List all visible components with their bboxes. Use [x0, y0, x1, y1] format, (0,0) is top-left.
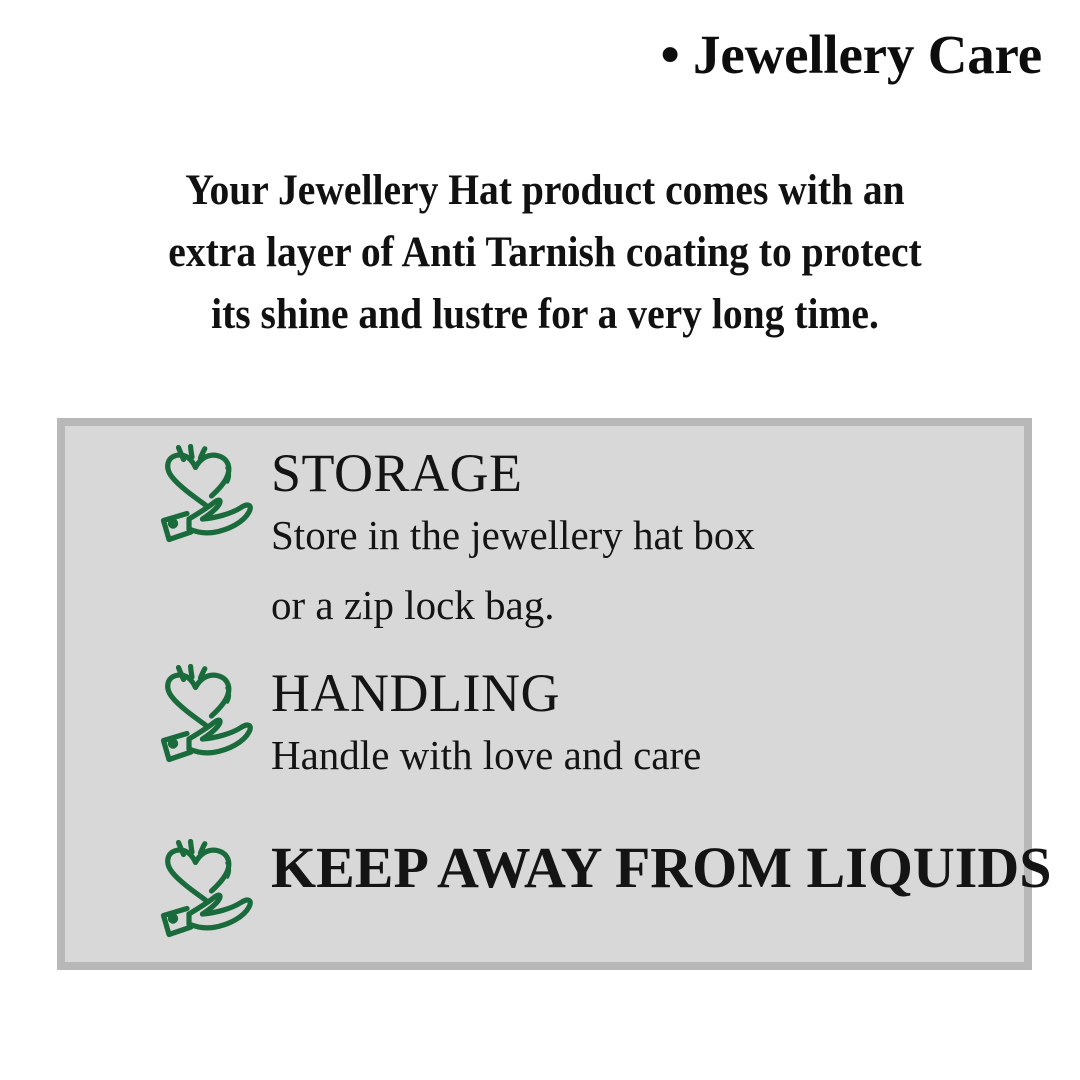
intro-line-3: its shine and lustre for a very long tim…: [108, 284, 982, 346]
care-item-text: HANDLING Handle with love and care: [271, 664, 701, 784]
care-item-body-line-2: or a zip lock bag.: [271, 576, 755, 634]
intro-line-2: extra layer of Anti Tarnish coating to p…: [108, 222, 982, 284]
care-item-storage: STORAGE Store in the jewellery hat box o…: [153, 444, 755, 634]
care-item-body: Store in the jewellery hat box or a zip …: [271, 506, 755, 634]
care-item-handling: HANDLING Handle with love and care: [153, 664, 701, 784]
care-item-heading: HANDLING: [271, 661, 560, 723]
page-title: • Jewellery Care: [0, 26, 1042, 84]
care-instructions-panel: STORAGE Store in the jewellery hat box o…: [57, 418, 1032, 970]
hand-holding-heart-icon: [153, 444, 257, 544]
care-item-heading: STORAGE: [271, 443, 523, 503]
jewellery-care-card: • Jewellery Care Your Jewellery Hat prod…: [0, 0, 1080, 1080]
care-item-body: Handle with love and care: [271, 726, 701, 784]
intro-line-1: Your Jewellery Hat product comes with an: [108, 160, 982, 222]
hand-holding-heart-icon: [153, 664, 257, 764]
care-item-text: STORAGE Store in the jewellery hat box o…: [271, 444, 755, 634]
care-item-heading: KEEP AWAY FROM LIQUIDS: [271, 825, 1051, 900]
care-item-body-line-1: Store in the jewellery hat box: [271, 506, 755, 564]
care-item-body-line-1: Handle with love and care: [271, 726, 701, 784]
care-item-keep-away-from-liquids: KEEP AWAY FROM LIQUIDS: [153, 839, 1051, 939]
hand-holding-heart-icon: [153, 839, 257, 939]
intro-paragraph: Your Jewellery Hat product comes with an…: [108, 160, 982, 346]
care-item-text: KEEP AWAY FROM LIQUIDS: [271, 839, 1051, 897]
